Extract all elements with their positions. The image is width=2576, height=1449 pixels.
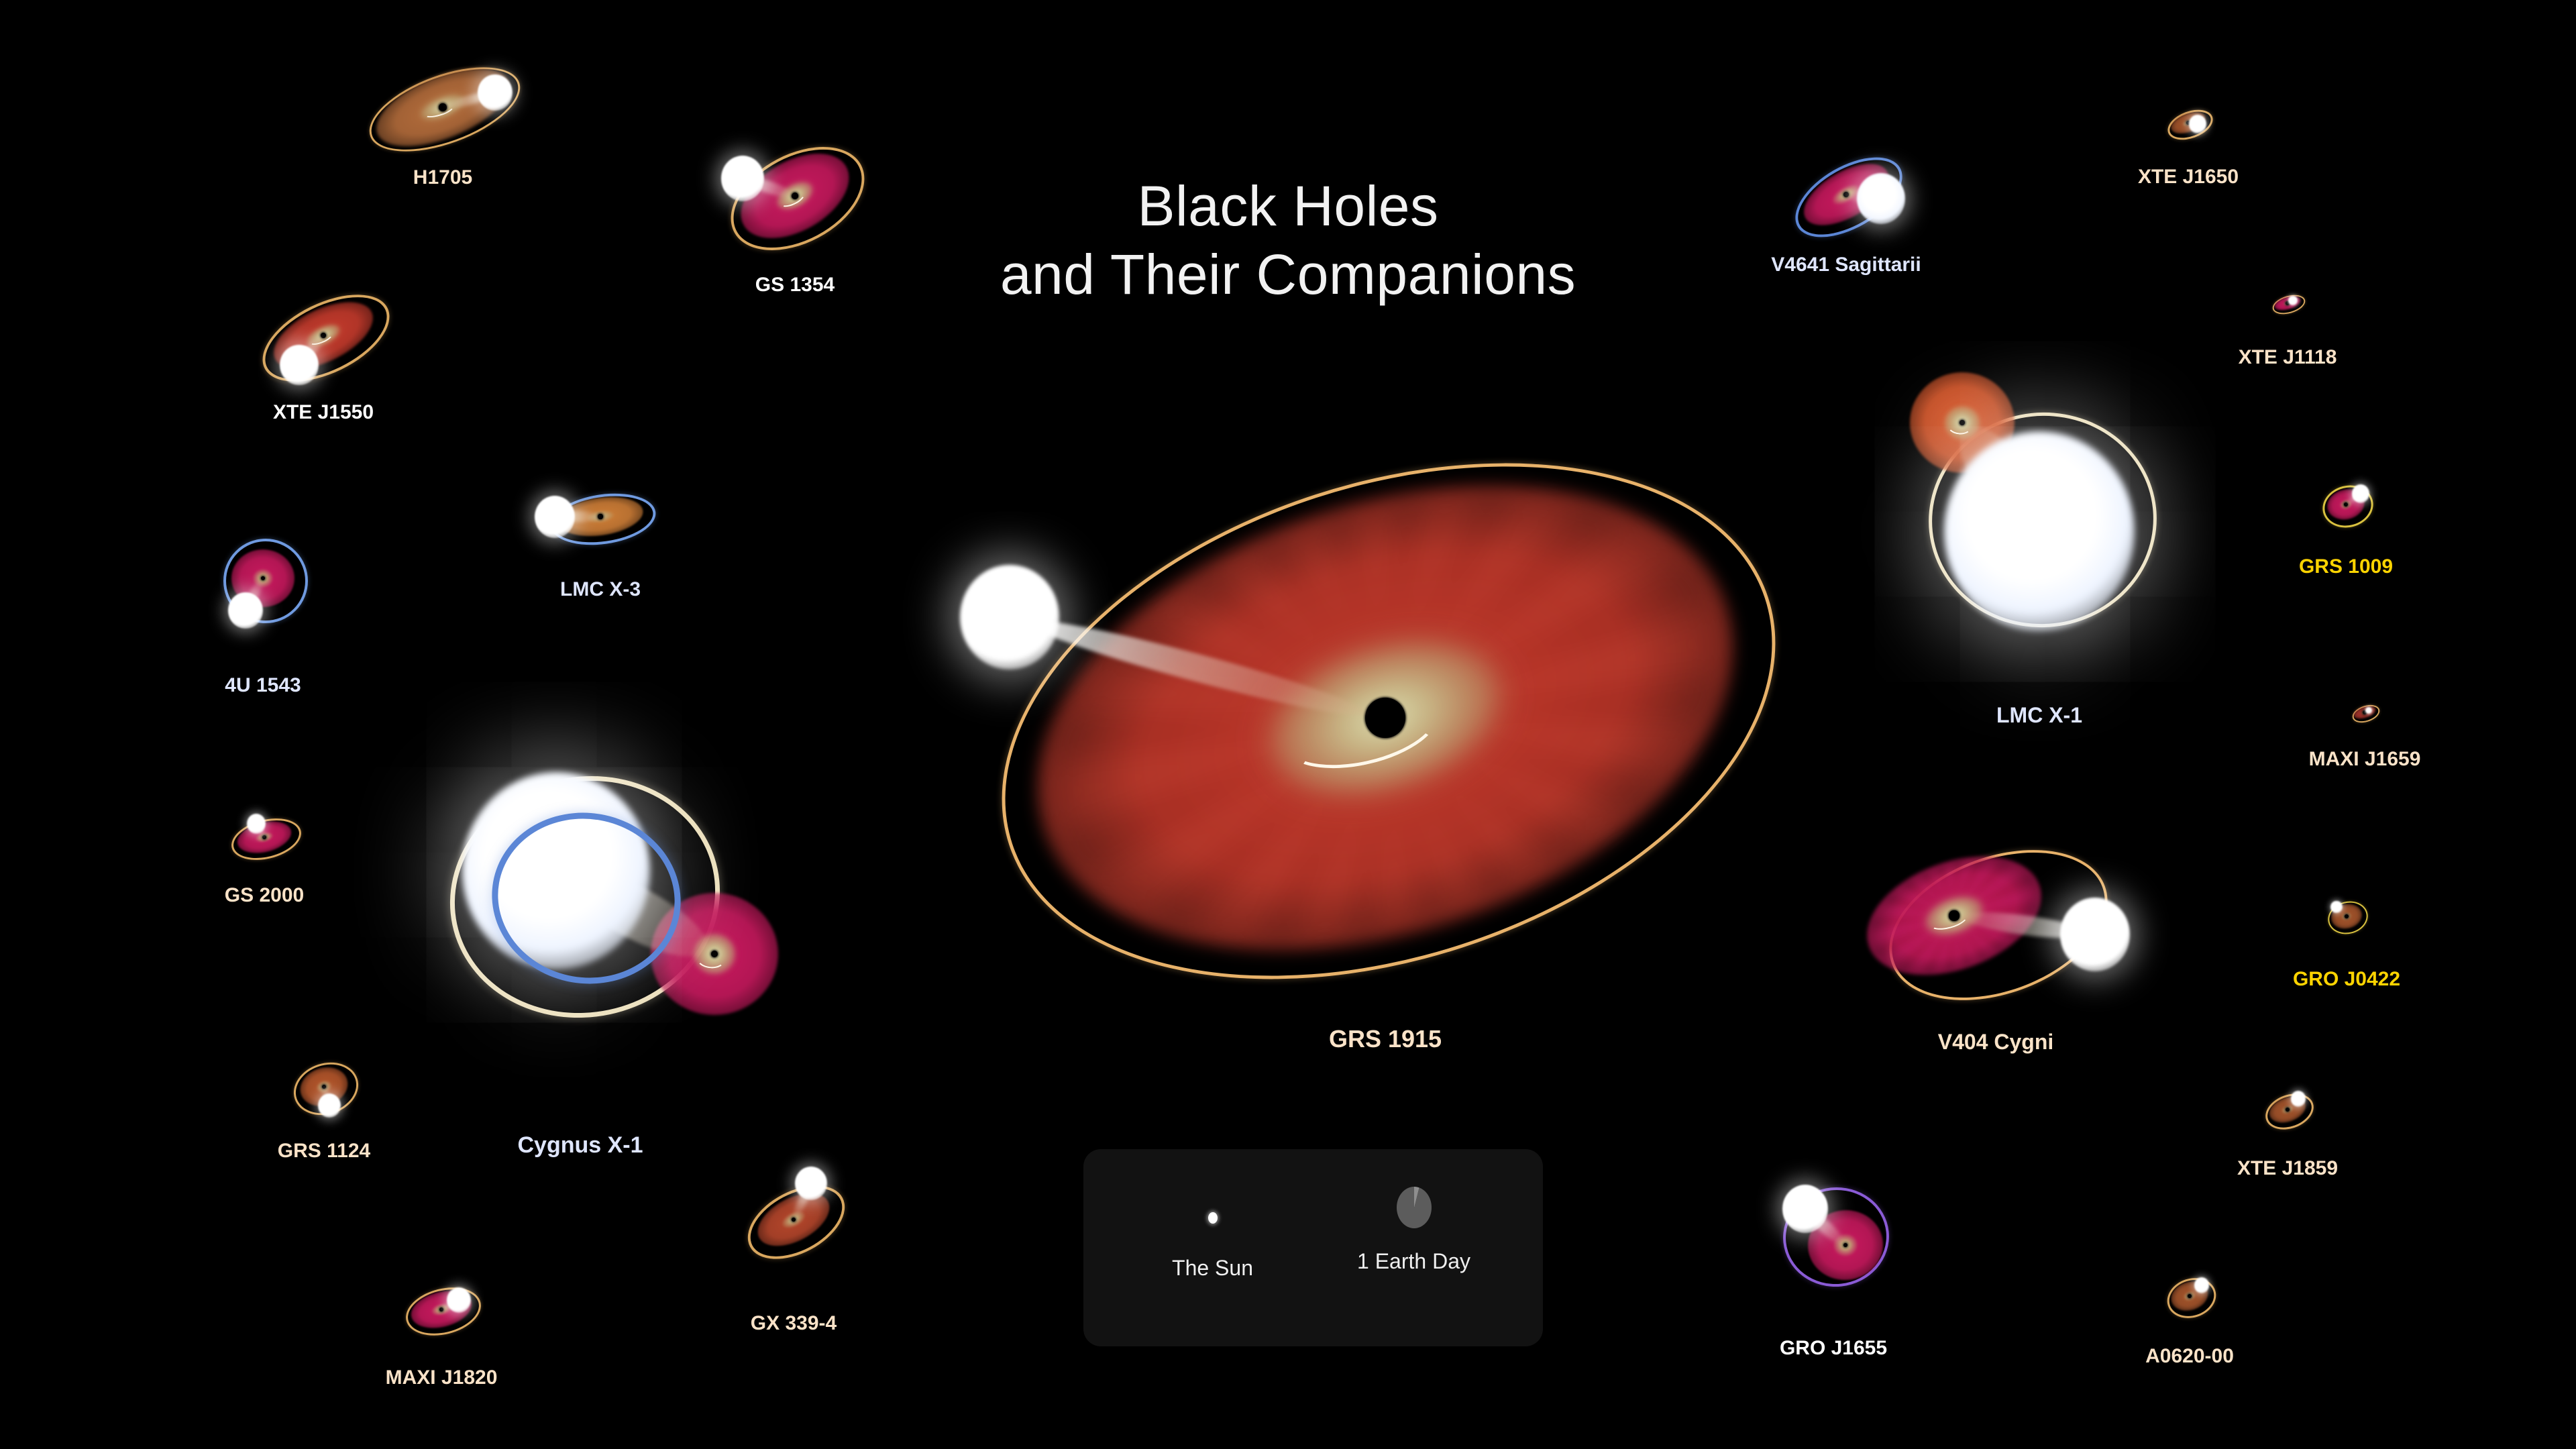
system-label: GRS 1915 <box>1329 1025 1442 1053</box>
companion-star <box>447 1287 471 1313</box>
black-hole <box>598 514 602 519</box>
companion-star <box>2291 1091 2306 1106</box>
system-label: GX 339-4 <box>751 1312 837 1335</box>
legend-label-earth-day: 1 Earth Day <box>1357 1249 1470 1274</box>
sun-dot-icon <box>1208 1212 1218 1224</box>
companion-star <box>318 1093 341 1118</box>
system-label: H1705 <box>413 166 472 189</box>
system-label: GS 2000 <box>225 884 304 907</box>
system-label: GRO J1655 <box>1780 1337 1887 1360</box>
companion-star <box>2189 115 2206 133</box>
system-label: LMC X-1 <box>1996 703 2082 728</box>
companion-star <box>228 592 263 629</box>
companion-star <box>795 1167 827 1200</box>
companion-star <box>1782 1185 1828 1232</box>
system-label: 4U 1543 <box>225 674 301 697</box>
system-label: Cygnus X-1 <box>517 1132 643 1159</box>
system-label: XTE J1650 <box>2138 166 2239 189</box>
system-label: XTE J1550 <box>273 401 374 424</box>
black-hole-poster: Black Holes and Their Companions H1705GS… <box>0 0 2576 1449</box>
companion-star <box>280 345 319 386</box>
system-label: GS 1354 <box>755 274 835 297</box>
legend-label-sun: The Sun <box>1172 1256 1253 1281</box>
companion-star <box>478 74 513 111</box>
companion-star <box>960 565 1059 669</box>
legend-item-sun: The Sun <box>1112 1180 1313 1281</box>
black-hole <box>1365 698 1405 738</box>
companion-star <box>2060 898 2130 971</box>
companion-star <box>721 156 764 201</box>
companion-star <box>247 814 266 833</box>
companion-star <box>2194 1277 2209 1293</box>
system-label: GRS 1009 <box>2299 555 2393 578</box>
system-label: MAXI J1820 <box>386 1366 498 1389</box>
black-hole <box>1949 910 1959 920</box>
clock-disk-icon <box>1397 1187 1432 1228</box>
page-title: Black Holes and Their Companions <box>0 172 2576 309</box>
legend-item-earth-day: 1 Earth Day <box>1313 1180 1515 1274</box>
system-label: MAXI J1659 <box>2309 748 2421 771</box>
system-label: GRO J0422 <box>2293 968 2400 991</box>
black-hole <box>2345 914 2349 918</box>
scale-legend: The Sun 1 Earth Day <box>1083 1149 1543 1346</box>
black-hole <box>2188 1294 2192 1298</box>
system-label: A0620-00 <box>2145 1345 2234 1368</box>
system-label: XTE J1118 <box>2239 346 2337 369</box>
system-label: V4641 Sagittarii <box>1771 254 1921 276</box>
companion-star <box>1857 173 1905 224</box>
companion-star <box>1944 431 2135 631</box>
companion-star <box>2352 484 2369 502</box>
black-hole <box>2286 1108 2290 1112</box>
system-label: V404 Cygni <box>1938 1030 2054 1055</box>
companion-star <box>535 496 575 538</box>
black-hole <box>792 193 798 199</box>
system-label: XTE J1859 <box>2237 1157 2338 1180</box>
system-label: LMC X-3 <box>560 578 641 601</box>
system-label: GRS 1124 <box>278 1140 370 1163</box>
